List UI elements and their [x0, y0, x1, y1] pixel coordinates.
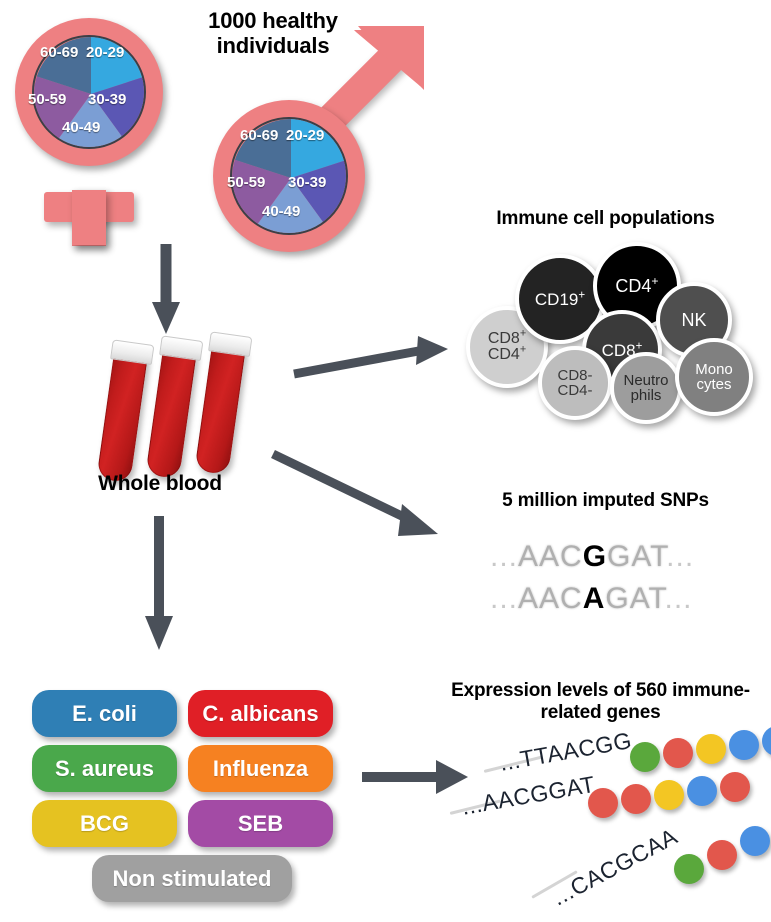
stimulus-bcg[interactable]: BCG: [32, 800, 177, 847]
snp-sequence-row-1: ...AACGGAT...: [490, 540, 694, 574]
section-title-expression: Expression levels of 560 immune-related …: [430, 680, 771, 724]
male-slice-label-60-69: 60-69: [240, 127, 278, 144]
male-symbol-arrowhead: [348, 24, 426, 102]
immune-cell-cluster: CD8+ CD4+ CD19+ CD4+ CD8+ NK CD8- CD4- N…: [460, 240, 771, 415]
expression-bead: [729, 730, 759, 760]
section-title-immune-cells: Immune cell populations: [440, 208, 771, 230]
expression-strand-3: ...CACGCAA: [528, 808, 771, 908]
section-title-snp: 5 million imputed SNPs: [440, 490, 771, 512]
expression-bead: [630, 742, 660, 772]
snp-left-bases-1: AAC: [518, 540, 583, 573]
female-symbol-stem-lower: [72, 190, 106, 245]
expression-bead: [740, 826, 770, 856]
snp-left-bases-2: AAC: [518, 582, 583, 615]
expression-bead: [654, 780, 684, 810]
immune-cell-cd19p-label: CD19+: [535, 291, 585, 308]
immune-cell-monocytes-line2: cytes: [696, 377, 731, 392]
arrow-blood-to-stimuli: [142, 516, 178, 652]
snp-right-bases-1: GAT: [607, 540, 666, 573]
arrow-blood-to-immune-cells: [292, 330, 452, 390]
expression-bead: [762, 726, 771, 756]
immune-cell-cd8n-cd4n-line2: CD4-: [557, 383, 592, 398]
immune-cell-monocytes: Mono cytes: [675, 338, 753, 416]
immune-cell-neutrophils-line1: Neutro: [623, 373, 668, 388]
page-title-cohort: 1000 healthy individuals: [168, 8, 378, 59]
blood-tube-cap: [159, 335, 203, 361]
immune-cell-neutrophils-line2: phils: [631, 388, 662, 403]
male-slice-label-20-29: 20-29: [286, 127, 324, 144]
snp-right-bases-2: GAT: [605, 582, 664, 615]
snp-prefix-dots-2: ...: [490, 582, 518, 615]
male-slice-label-40-49: 40-49: [262, 203, 300, 220]
stimulus-non-stimulated[interactable]: Non stimulated: [92, 855, 292, 902]
snp-prefix-dots-1: ...: [490, 540, 518, 573]
blood-tube: [96, 352, 147, 483]
female-slice-label-60-69: 60-69: [40, 44, 78, 61]
immune-cell-neutrophils: Neutro phils: [610, 352, 682, 424]
stimulus-influenza[interactable]: Influenza: [188, 745, 333, 792]
immune-cell-cd8n-cd4n-line1: CD8-: [557, 368, 592, 383]
female-slice-label-40-49: 40-49: [62, 119, 100, 136]
female-slice-label-30-39: 30-39: [88, 91, 126, 108]
expression-strand-text-3: ...CACGCAA: [548, 823, 682, 912]
expression-bead: [687, 776, 717, 806]
female-slice-label-50-59: 50-59: [28, 91, 66, 108]
male-slice-label-50-59: 50-59: [227, 174, 265, 191]
expression-bead: [674, 854, 704, 884]
stimulus-c-albicans[interactable]: C. albicans: [188, 690, 333, 737]
snp-suffix-dots-1: ...: [666, 540, 694, 573]
blood-tube: [194, 344, 245, 475]
stimulus-e-coli[interactable]: E. coli: [32, 690, 177, 737]
expression-bead: [720, 772, 750, 802]
female-slice-label-20-29: 20-29: [86, 44, 124, 61]
immune-cell-cd8n-cd4n: CD8- CD4-: [538, 346, 612, 420]
snp-variant-base-2: A: [583, 582, 606, 615]
whole-blood-tubes: [108, 340, 288, 480]
immune-cell-cd4p-label: CD4+: [615, 277, 658, 295]
blood-tube: [145, 348, 196, 479]
immune-cell-nk-label: NK: [681, 311, 706, 329]
snp-suffix-dots-2: ...: [665, 582, 693, 615]
stimulus-seb[interactable]: SEB: [188, 800, 333, 847]
figure-canvas: 1000 healthy individuals 20-29 30-39 40-…: [0, 0, 771, 922]
immune-cell-cd8p-cd4p-line2: CD4+: [488, 347, 526, 363]
label-whole-blood: Whole blood: [60, 472, 260, 496]
blood-tube-cap: [110, 339, 154, 365]
expression-bead: [696, 734, 726, 764]
expression-bead: [707, 840, 737, 870]
blood-tube-cap: [208, 331, 252, 357]
immune-cell-monocytes-line1: Mono: [695, 362, 733, 377]
snp-variant-base-1: G: [583, 540, 607, 573]
stimulus-s-aureus[interactable]: S. aureus: [32, 745, 177, 792]
arrow-blood-to-snp: [270, 448, 445, 548]
arrow-cohort-to-blood: [148, 244, 184, 336]
male-slice-label-30-39: 30-39: [288, 174, 326, 191]
expression-bead: [663, 738, 693, 768]
snp-sequence-row-2: ...AACAGAT...: [490, 582, 693, 616]
